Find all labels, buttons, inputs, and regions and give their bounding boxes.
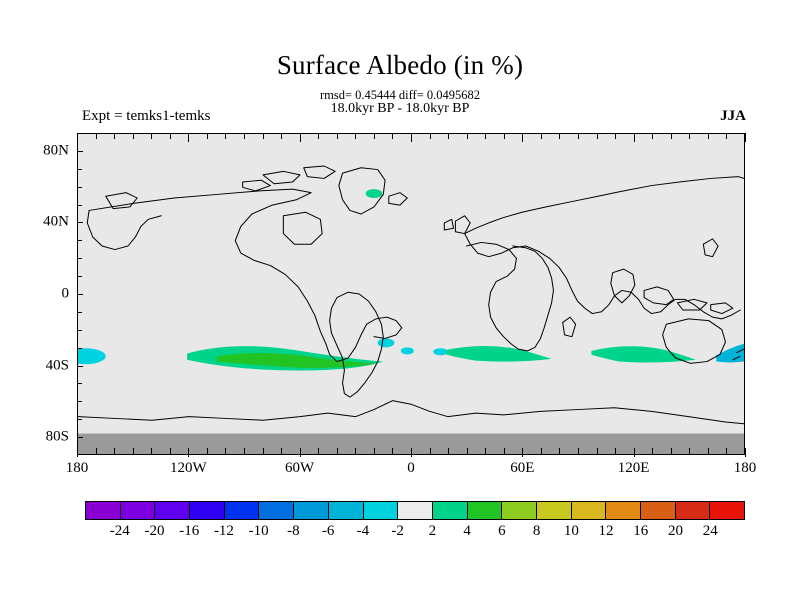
x-axis-minor-tick [485, 448, 486, 454]
colorbar-segment-18 [710, 502, 744, 519]
x-axis-minor-tick [541, 448, 542, 454]
x-axis-minor-tick-top [263, 133, 264, 139]
x-axis-minor-tick-top [133, 133, 134, 139]
x-axis-minor-tick [708, 448, 709, 454]
x-axis-minor-tick-top [114, 133, 115, 139]
x-axis-minor-tick-top [541, 133, 542, 139]
x-axis-minor-tick-top [652, 133, 653, 139]
y-axis-minor-tick [77, 151, 82, 152]
x-axis-minor-tick-top [522, 133, 523, 142]
x-axis-minor-tick [170, 448, 171, 454]
x-axis-label-2: 60W [260, 460, 340, 477]
colorbar-segment-10 [433, 502, 468, 519]
y-axis-minor-tick [77, 437, 82, 438]
x-axis-minor-tick [374, 448, 375, 454]
x-axis-minor-tick [281, 448, 282, 454]
x-axis-minor-tick-top [207, 133, 208, 139]
x-axis-minor-tick-top [689, 133, 690, 139]
x-axis-label-5: 120E [594, 460, 674, 477]
x-axis-minor-tick-top [77, 133, 78, 142]
colorbar-tick-label-17: 24 [680, 523, 740, 540]
x-axis-minor-tick-top [615, 133, 616, 139]
x-axis-minor-tick-top [708, 133, 709, 139]
x-axis-minor-tick [467, 448, 468, 454]
colorbar [85, 501, 745, 520]
y-axis-minor-tick [77, 240, 82, 241]
page-title: Surface Albedo (in %) [0, 50, 800, 81]
x-axis-minor-tick [745, 448, 746, 457]
x-axis-minor-tick [430, 448, 431, 454]
y-axis-label-1: 40N [7, 214, 69, 231]
x-axis-minor-tick-top [430, 133, 431, 139]
x-axis-minor-tick-top [671, 133, 672, 139]
colorbar-segment-12 [502, 502, 537, 519]
y-axis-minor-tick [77, 222, 82, 223]
y-axis-minor-tick [77, 187, 82, 188]
x-axis-minor-tick-top [374, 133, 375, 139]
colorbar-segment-5 [259, 502, 294, 519]
x-axis-minor-tick-top [745, 133, 746, 142]
x-axis-minor-tick-top [355, 133, 356, 139]
x-axis-minor-tick-top [244, 133, 245, 139]
x-axis-minor-tick [151, 448, 152, 454]
x-axis-minor-tick-top [597, 133, 598, 139]
x-axis-minor-tick [244, 448, 245, 454]
x-axis-minor-tick [77, 448, 78, 457]
x-axis-minor-tick [188, 448, 189, 457]
coastlines [78, 166, 744, 424]
x-axis-label-3: 0 [371, 460, 451, 477]
x-axis-minor-tick-top [726, 133, 727, 139]
y-axis-minor-tick [77, 276, 82, 277]
x-axis-label-6: 180 [705, 460, 785, 477]
x-axis-minor-tick [522, 448, 523, 457]
x-axis-minor-tick [114, 448, 115, 454]
x-axis-minor-tick-top [467, 133, 468, 139]
x-axis-minor-tick-top [225, 133, 226, 139]
x-axis-minor-tick [671, 448, 672, 454]
y-axis-minor-tick [77, 419, 82, 420]
x-axis-minor-tick [578, 448, 579, 454]
x-axis-minor-tick [318, 448, 319, 454]
season-label: JJA [720, 108, 746, 125]
x-axis-label-1: 120W [148, 460, 228, 477]
x-axis-minor-tick [392, 448, 393, 454]
x-axis-minor-tick [300, 448, 301, 457]
y-axis-minor-tick [77, 169, 82, 170]
x-axis-minor-tick-top [318, 133, 319, 139]
x-axis-minor-tick [263, 448, 264, 454]
y-axis-minor-tick [77, 383, 82, 384]
y-axis-label-0: 80N [7, 142, 69, 159]
y-axis-minor-tick [77, 205, 82, 206]
y-axis-label-4: 80S [7, 429, 69, 446]
colorbar-segment-8 [364, 502, 399, 519]
colorbar-segment-16 [641, 502, 676, 519]
x-axis-minor-tick-top [634, 133, 635, 142]
colorbar-segment-17 [676, 502, 711, 519]
x-axis-minor-tick-top [392, 133, 393, 139]
colorbar-segment-3 [190, 502, 225, 519]
x-axis-minor-tick [559, 448, 560, 454]
x-axis-minor-tick [133, 448, 134, 454]
x-axis-minor-tick [689, 448, 690, 454]
colorbar-segment-11 [468, 502, 503, 519]
x-axis-minor-tick-top [448, 133, 449, 139]
y-axis-minor-tick [77, 312, 82, 313]
y-axis-label-2: 0 [7, 286, 69, 303]
y-axis-minor-tick [77, 348, 82, 349]
anomaly-shapes [78, 189, 744, 370]
x-axis-minor-tick [634, 448, 635, 457]
x-axis-minor-tick-top [485, 133, 486, 139]
colorbar-segment-13 [537, 502, 572, 519]
y-axis-minor-tick [77, 330, 82, 331]
x-axis-minor-tick [96, 448, 97, 454]
figure-canvas: Surface Albedo (in %) rmsd= 0.45444 diff… [0, 0, 800, 600]
x-axis-minor-tick-top [504, 133, 505, 139]
x-axis-minor-tick-top [578, 133, 579, 139]
x-axis-minor-tick-top [337, 133, 338, 139]
colorbar-segment-9 [398, 502, 433, 519]
y-axis-minor-tick [77, 258, 82, 259]
x-axis-minor-tick [355, 448, 356, 454]
x-axis-minor-tick-top [411, 133, 412, 142]
colorbar-segment-4 [225, 502, 260, 519]
colorbar-segment-7 [329, 502, 364, 519]
x-axis-minor-tick-top [188, 133, 189, 142]
x-axis-minor-tick [337, 448, 338, 454]
map-plot-area [77, 133, 745, 455]
x-axis-minor-tick [726, 448, 727, 454]
x-axis-minor-tick-top [170, 133, 171, 139]
x-axis-minor-tick-top [151, 133, 152, 139]
colorbar-segment-0 [86, 502, 121, 519]
x-axis-minor-tick-top [300, 133, 301, 142]
experiment-label: Expt = temks1-temks [82, 108, 210, 125]
x-axis-minor-tick [207, 448, 208, 454]
x-axis-minor-tick [652, 448, 653, 454]
world-map [78, 134, 744, 454]
x-axis-minor-tick [448, 448, 449, 454]
colorbar-segment-15 [606, 502, 641, 519]
colorbar-segment-14 [572, 502, 607, 519]
x-axis-minor-tick [225, 448, 226, 454]
x-axis-minor-tick [615, 448, 616, 454]
y-axis-minor-tick [77, 366, 82, 367]
y-axis-label-3: 40S [7, 357, 69, 374]
x-axis-minor-tick-top [559, 133, 560, 139]
x-axis-minor-tick [597, 448, 598, 454]
x-axis-minor-tick [504, 448, 505, 454]
colorbar-segment-1 [121, 502, 156, 519]
colorbar-segment-2 [155, 502, 190, 519]
x-axis-minor-tick [411, 448, 412, 457]
y-axis-minor-tick [77, 401, 82, 402]
colorbar-segment-6 [294, 502, 329, 519]
x-axis-minor-tick-top [281, 133, 282, 139]
y-axis-minor-tick [77, 294, 82, 295]
x-axis-minor-tick-top [96, 133, 97, 139]
x-axis-label-0: 180 [37, 460, 117, 477]
x-axis-label-4: 60E [482, 460, 562, 477]
